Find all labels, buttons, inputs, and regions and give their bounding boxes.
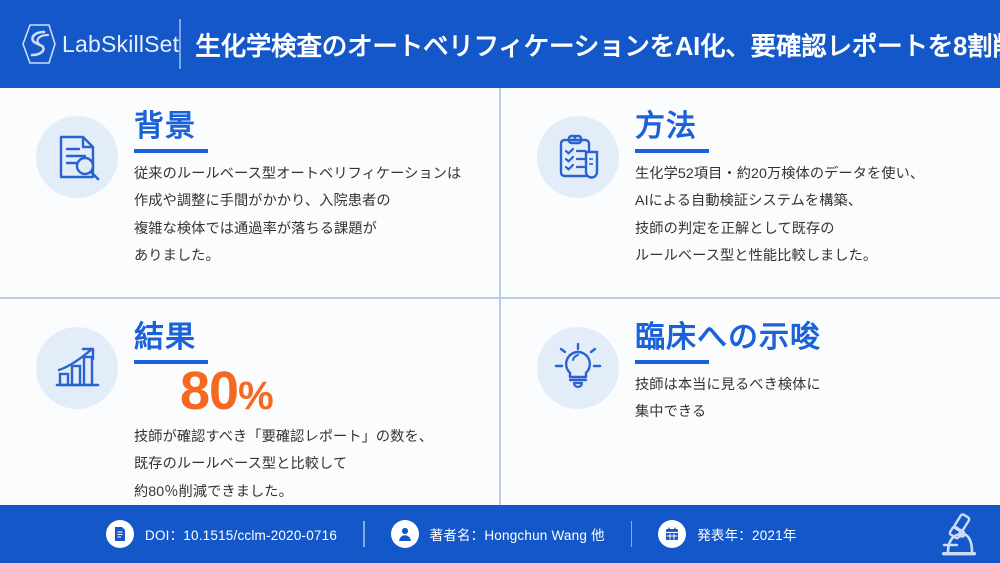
heading-rule bbox=[635, 360, 709, 364]
panel-text: 生化学52項目・約20万検体のデータを使い、 AIによる自動検証システムを構築、… bbox=[635, 161, 924, 270]
panel-text: 従来のルールベース型オートベリフィケーションは 作成や調整に手間がかかり、入院患… bbox=[134, 161, 461, 270]
footer-year-label: 発表年：2021年 bbox=[697, 524, 796, 544]
footer-separator bbox=[631, 521, 633, 547]
calendar-icon bbox=[658, 520, 686, 548]
footer-year: 発表年：2021年 bbox=[658, 520, 796, 548]
header-divider bbox=[179, 19, 181, 69]
infographic-root: LabSkillSet 生化学検査のオートベリフィケーションをAI化、要確認レポ… bbox=[0, 0, 1000, 563]
heading-rule bbox=[635, 149, 709, 153]
footer-author: 著者名：Hongchun Wang 他 bbox=[391, 520, 605, 548]
footer-doi: DOI：10.1515/cclm-2020-0716 bbox=[106, 520, 337, 548]
header-bar: LabSkillSet 生化学検査のオートベリフィケーションをAI化、要確認レポ… bbox=[0, 0, 1000, 88]
person-icon bbox=[391, 520, 419, 548]
page-title: 生化学検査のオートベリフィケーションをAI化、要確認レポートを8割削減 bbox=[195, 26, 1000, 63]
panel-heading: 背景 bbox=[134, 110, 461, 143]
panel-clinical-implication: 臨床への示唆 技師は本当に見るべき検体に 集中できる bbox=[501, 299, 1000, 505]
footer-doi-label: DOI：10.1515/cclm-2020-0716 bbox=[145, 524, 337, 544]
panel-heading: 臨床への示唆 bbox=[635, 321, 821, 354]
lightbulb-icon bbox=[537, 327, 619, 409]
bar-chart-growth-icon bbox=[36, 327, 118, 409]
panel-text: 技師が確認すべき「要確認レポート」の数を、 既存のルールベース型と比較して 約8… bbox=[134, 424, 433, 506]
heading-rule bbox=[134, 149, 208, 153]
panel-method: 方法 生化学52項目・約20万検体のデータを使い、 AIによる自動検証システムを… bbox=[501, 88, 1000, 297]
brand-logo: LabSkillSet bbox=[0, 22, 179, 66]
footer-separator bbox=[363, 521, 365, 547]
panel-heading: 方法 bbox=[635, 110, 924, 143]
hexagon-s-logo-icon bbox=[18, 22, 58, 66]
clipboard-checklist-testtube-icon bbox=[537, 116, 619, 198]
panel-results: 結果 80% 技師が確認すべき「要確認レポート」の数を、 既存のルールベース型と… bbox=[0, 299, 499, 505]
document-icon bbox=[106, 520, 134, 548]
footer-bar: DOI：10.1515/cclm-2020-0716 著者名：Hongchun … bbox=[0, 505, 1000, 563]
panel-grid: 背景 従来のルールベース型オートベリフィケーションは 作成や調整に手間がかかり、… bbox=[0, 88, 1000, 505]
stat-value-80-percent: 80% bbox=[180, 364, 433, 418]
brand-name: LabSkillSet bbox=[62, 31, 179, 58]
panel-background: 背景 従来のルールベース型オートベリフィケーションは 作成や調整に手間がかかり、… bbox=[0, 88, 499, 297]
panel-text: 技師は本当に見るべき検体に 集中できる bbox=[635, 372, 821, 427]
stat-number: 80 bbox=[180, 361, 238, 421]
document-search-icon bbox=[36, 116, 118, 198]
footer-author-label: 著者名：Hongchun Wang 他 bbox=[430, 524, 605, 544]
panel-heading: 結果 bbox=[134, 321, 433, 354]
microscope-icon bbox=[932, 512, 984, 563]
stat-unit: % bbox=[238, 374, 273, 418]
